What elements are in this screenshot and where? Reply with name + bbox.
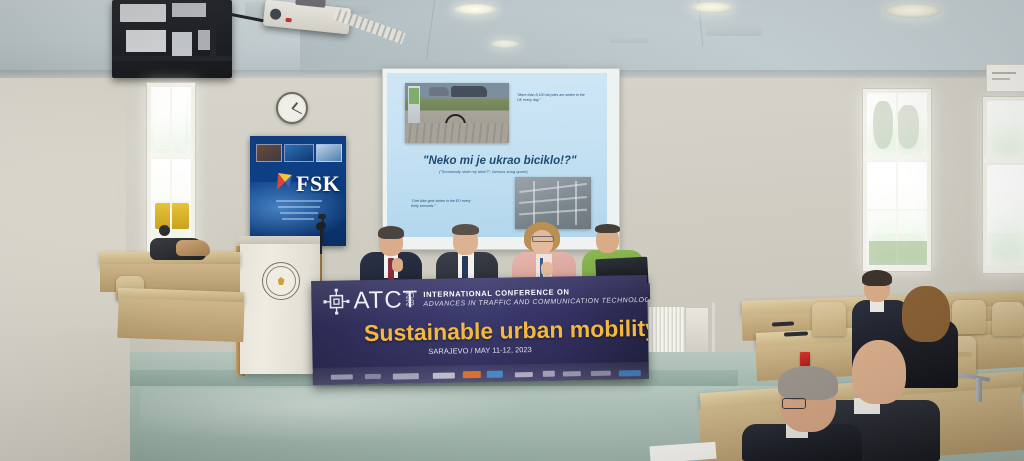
desk-red-card[interactable] xyxy=(800,352,810,366)
panelist-2-tie xyxy=(462,256,468,280)
ceiling-light xyxy=(490,40,520,48)
window-transom xyxy=(865,155,929,161)
poster-thumbnail xyxy=(256,144,282,162)
window-mullion xyxy=(151,201,191,203)
panelist-4-hair xyxy=(595,224,620,233)
panelist-3-hand xyxy=(541,262,553,276)
sponsor-logo xyxy=(463,371,481,378)
rig-panel xyxy=(120,4,166,22)
window-transom xyxy=(149,153,193,158)
sponsor-logo xyxy=(619,370,641,376)
photo-rack-bar xyxy=(519,196,587,203)
ceiling-light xyxy=(884,4,942,18)
chip-logo-icon xyxy=(323,288,349,314)
slide-note-bottom-left: "One bike gets stolen in the EU every th… xyxy=(411,199,477,209)
wall-clock xyxy=(276,92,308,124)
poster-thumbnail xyxy=(284,144,314,162)
attendee-4-hair xyxy=(778,366,838,400)
photo-parked-car xyxy=(451,86,487,97)
panelist-3-face xyxy=(531,230,553,254)
desk-support xyxy=(976,378,982,402)
poster-text-line xyxy=(278,206,320,208)
photo-rack-bar xyxy=(519,183,587,193)
slide-photo-bicycle-rack xyxy=(405,83,509,143)
clock-minute-hand xyxy=(292,108,302,114)
fsk-poster-title: FSK xyxy=(296,171,340,197)
window-right-1 xyxy=(862,88,932,272)
photo-sign-face xyxy=(409,88,419,104)
rig-panel xyxy=(126,30,166,52)
window-right-2-glass-upper xyxy=(987,101,1024,157)
fsk-poster: FSK xyxy=(250,136,346,246)
rig-panel xyxy=(172,32,192,58)
sponsor-logo xyxy=(515,372,533,377)
sponsor-logo xyxy=(563,371,581,376)
atct-year: 2023 xyxy=(405,293,415,306)
window-glare xyxy=(988,167,1024,233)
poster-thumbnail xyxy=(316,144,342,162)
attendee-1-hair xyxy=(862,270,892,286)
window-mullion xyxy=(867,209,927,211)
attendee-3-head xyxy=(852,340,906,404)
panelist-1-hand xyxy=(392,258,403,272)
sponsor-logo xyxy=(331,374,353,379)
slide-note-top-right: "More than 8,100 bicycles are stolen in … xyxy=(517,93,589,103)
window-transom xyxy=(983,157,1024,163)
presentation-slide: "More than 8,100 bicycles are stolen in … xyxy=(387,73,607,237)
attendee-2-hair xyxy=(902,286,950,342)
wall-radiator xyxy=(648,306,686,358)
ceiling-vent xyxy=(610,36,648,43)
lecture-hall-photo: "More than 8,100 bicycles are stolen in … xyxy=(0,0,1024,461)
photo-parked-car xyxy=(429,87,449,96)
outside-greenery xyxy=(869,241,927,265)
audience-chair[interactable] xyxy=(992,302,1024,336)
outside-vehicle xyxy=(155,203,189,229)
attendee-4-glasses xyxy=(782,398,806,409)
stage-front-floor xyxy=(0,330,130,461)
photo-paving xyxy=(405,123,509,143)
projector-red-marker xyxy=(285,18,291,23)
fsk-logo-mark xyxy=(276,172,294,192)
conference-banner: ATCT 2023 INTERNATIONAL CONFERENCE ON AD… xyxy=(311,275,649,385)
panelist-2-hair xyxy=(452,224,479,235)
photo-rack-post xyxy=(533,181,535,225)
poster-text-line xyxy=(276,200,322,202)
side-bench-face xyxy=(117,298,244,342)
window-mullion xyxy=(170,87,172,153)
ceiling-equipment-rig xyxy=(112,0,232,78)
rig-panel xyxy=(172,3,206,17)
speaker-podium xyxy=(240,240,320,374)
desk-paper[interactable] xyxy=(649,442,716,461)
ceiling-light xyxy=(453,4,497,15)
ceiling-vent xyxy=(706,26,762,36)
draped-scarf xyxy=(176,240,210,256)
sponsor-logo xyxy=(365,374,381,379)
slide-photo-bicycle-parking xyxy=(515,177,591,229)
mic-stem xyxy=(320,228,322,254)
poster-text-line xyxy=(280,212,318,214)
sponsor-logo xyxy=(433,372,455,378)
wall-sign-text-line xyxy=(992,72,1016,74)
floor-reflection xyxy=(140,388,560,448)
outside-tree xyxy=(897,105,919,149)
photo-rack-bar xyxy=(519,209,587,215)
radiator-panel xyxy=(686,308,708,356)
window-right-2 xyxy=(982,96,1024,274)
projector-top-cable xyxy=(295,0,326,8)
conference-theme: Sustainable urban mobility xyxy=(364,315,649,347)
slide-headline: "Neko mi je ukrao biciklo!?" xyxy=(423,155,576,167)
panelist-1-hair xyxy=(378,226,404,239)
sponsor-logo xyxy=(543,371,555,377)
conference-place-date: SARAJEVO / MAY 11-12, 2023 xyxy=(428,345,532,356)
podium-top xyxy=(238,236,322,244)
panelist-3-glasses xyxy=(532,236,554,242)
projection-screen: "More than 8,100 bicycles are stolen in … xyxy=(382,68,620,250)
audience-chair[interactable] xyxy=(812,302,846,336)
projector-lens xyxy=(270,8,282,20)
photo-rack-post xyxy=(575,181,577,225)
sponsor-logo xyxy=(591,371,611,376)
rig-cable xyxy=(210,12,216,58)
ceiling-light xyxy=(690,2,734,13)
outside-vehicle-wheel xyxy=(159,225,170,236)
wall-pipe xyxy=(712,302,715,358)
outside-tree xyxy=(873,101,893,149)
window-mullion xyxy=(896,93,898,155)
university-seal xyxy=(262,262,300,300)
sponsor-logo xyxy=(487,371,503,378)
wall-sign-text-line xyxy=(992,78,1010,80)
poster-text-line xyxy=(282,218,314,220)
sponsor-logo xyxy=(393,373,419,379)
slide-subline: ("Somebody stole my bike!?", famous song… xyxy=(439,169,528,174)
poster-stand-mic-head xyxy=(318,214,326,219)
photo-rack-post xyxy=(557,181,559,225)
